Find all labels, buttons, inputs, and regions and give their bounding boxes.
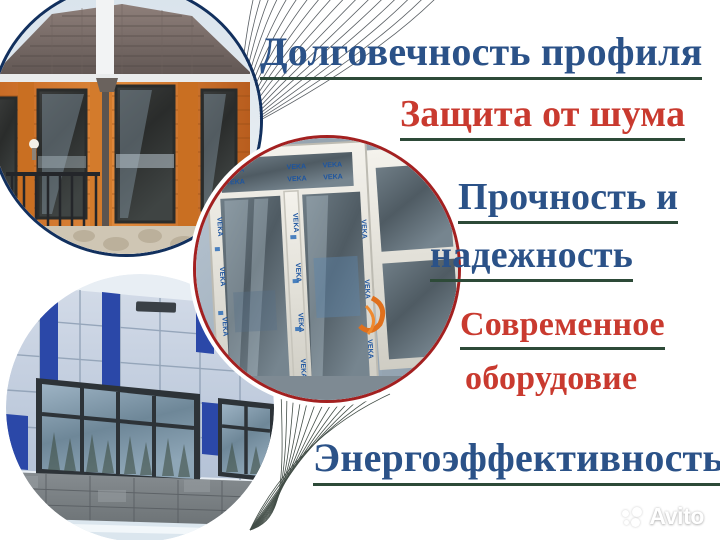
svg-text:VEKA: VEKA bbox=[218, 267, 226, 287]
headline-durability: Долговечность профиля bbox=[260, 32, 702, 80]
headline-modern: Современное bbox=[460, 308, 665, 350]
poster-canvas: VEKA VEKA VEKA VEKA VEKA VEKA VEKA VEKA … bbox=[0, 0, 720, 540]
headline-energy-efficiency: Энергоэффективность bbox=[313, 438, 720, 486]
avito-watermark: Avito bbox=[622, 503, 704, 530]
svg-text:VEKA: VEKA bbox=[220, 317, 228, 337]
headline-equipment: оборудовие bbox=[465, 362, 637, 396]
headline-text-block: Долговечность профиля Защита от шума Про… bbox=[250, 0, 720, 540]
headline-noise-protection: Защита от шума bbox=[400, 95, 685, 141]
svg-text:VEKA: VEKA bbox=[215, 217, 223, 237]
headline-reliability: надежность bbox=[430, 236, 633, 282]
avito-dots-icon bbox=[622, 507, 644, 527]
headline-strength: Прочность и bbox=[458, 178, 678, 224]
avito-wordmark: Avito bbox=[649, 503, 704, 530]
